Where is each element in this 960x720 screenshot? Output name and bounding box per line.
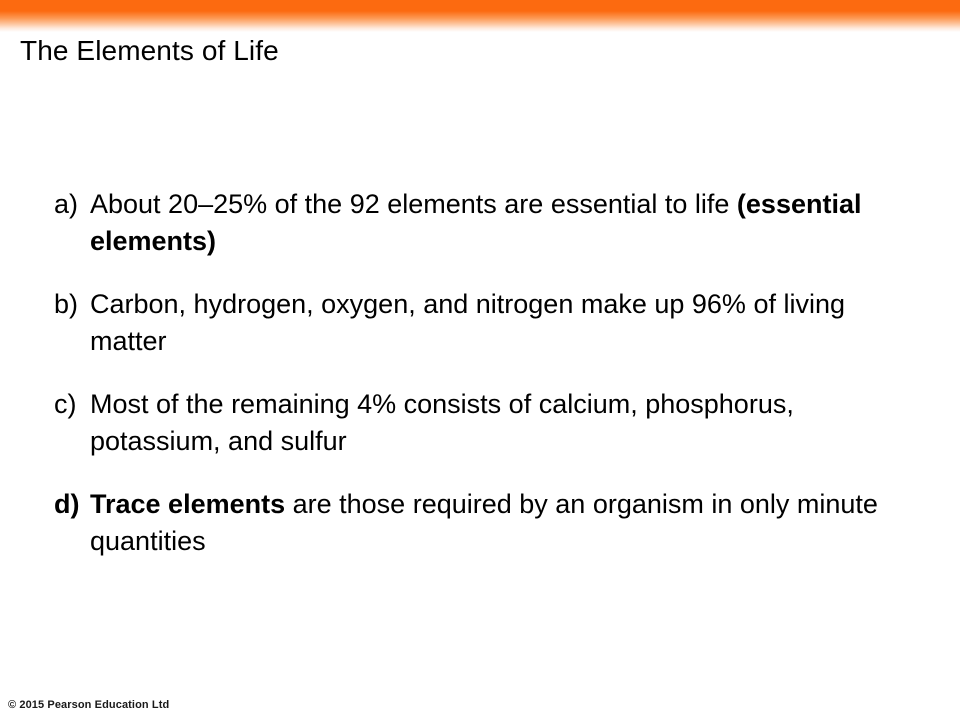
- list-item-marker-c: c): [54, 386, 90, 423]
- list-item-marker-b: b): [54, 286, 90, 323]
- list-item-marker-d: d): [54, 486, 90, 523]
- slide-canvas: The Elements of Life a) About 20–25% of …: [0, 0, 960, 720]
- list-item-text-d: Trace elements are those required by an …: [90, 486, 920, 560]
- orange-header-band: [0, 0, 960, 32]
- orange-band-solid: [0, 0, 960, 11]
- copyright-notice: © 2015 Pearson Education Ltd: [8, 698, 169, 712]
- list-item-marker-a: a): [54, 186, 90, 223]
- page-title: The Elements of Life: [20, 34, 279, 68]
- list-item-text-b: Carbon, hydrogen, oxygen, and nitrogen m…: [90, 286, 920, 360]
- list-item: b) Carbon, hydrogen, oxygen, and nitroge…: [54, 286, 934, 360]
- list-item: a) About 20–25% of the 92 elements are e…: [54, 186, 934, 260]
- bullet-list: a) About 20–25% of the 92 elements are e…: [54, 186, 934, 560]
- orange-band-gradient-fade: [0, 11, 960, 32]
- list-item-text-a: About 20–25% of the 92 elements are esse…: [90, 186, 920, 260]
- list-item-text-c: Most of the remaining 4% consists of cal…: [90, 386, 920, 460]
- list-item: c) Most of the remaining 4% consists of …: [54, 386, 934, 460]
- list-item: d) Trace elements are those required by …: [54, 486, 934, 560]
